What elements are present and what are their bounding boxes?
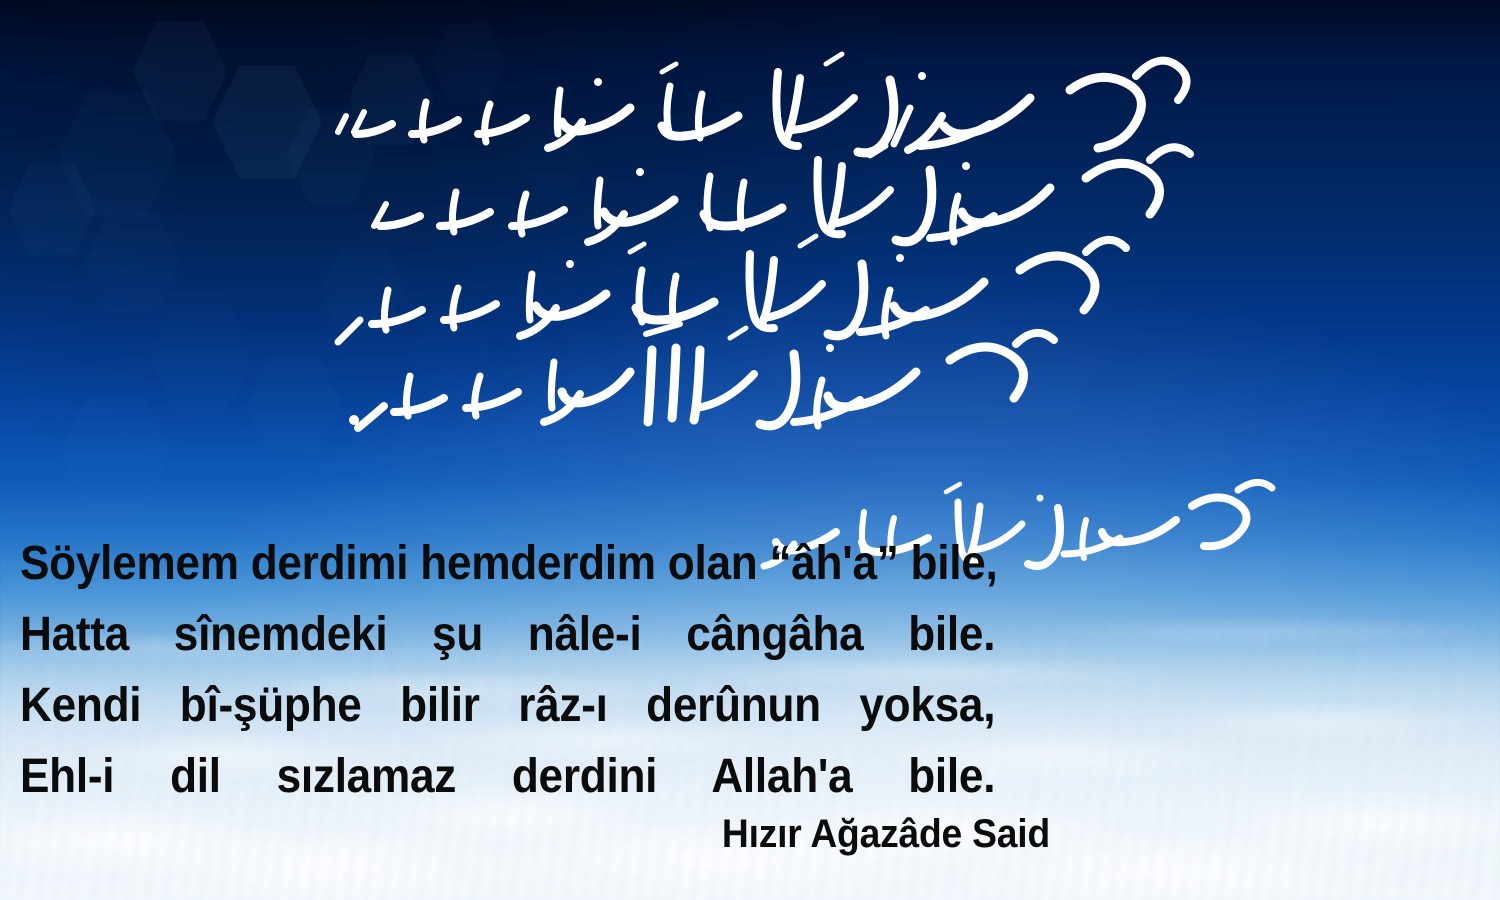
bokeh-hexagon — [246, 352, 342, 458]
bokeh-hexagon — [430, 20, 506, 106]
bokeh-hexagon — [320, 244, 406, 340]
poem-text-block: Söylemem derdimi hemderdim olan “âh'a” b… — [20, 528, 1080, 812]
poem-attribution: Hızır Ağazâde Said — [92, 812, 1050, 857]
bokeh-hexagon — [84, 210, 180, 316]
bokeh-hexagon — [900, 300, 984, 394]
poem-line-4: Ehl-i dil sızlamaz derdini Allah'a bile. — [20, 741, 995, 812]
bokeh-hexagon — [1010, 360, 1086, 446]
poem-poster: Söylemem derdimi hemderdim olan “âh'a” b… — [0, 0, 1500, 900]
bokeh-hexagon — [410, 310, 490, 400]
bokeh-hexagon — [150, 300, 254, 414]
bokeh-hexagon — [520, 120, 590, 200]
poem-line-1: Söylemem derdimi hemderdim olan “âh'a” b… — [20, 528, 995, 599]
poem-line-2: Hatta sînemdeki şu nâle-i cângâha bile. — [20, 599, 995, 670]
poem-line-3: Kendi bî-şüphe bilir râz-ı derûnun yoksa… — [20, 670, 995, 741]
